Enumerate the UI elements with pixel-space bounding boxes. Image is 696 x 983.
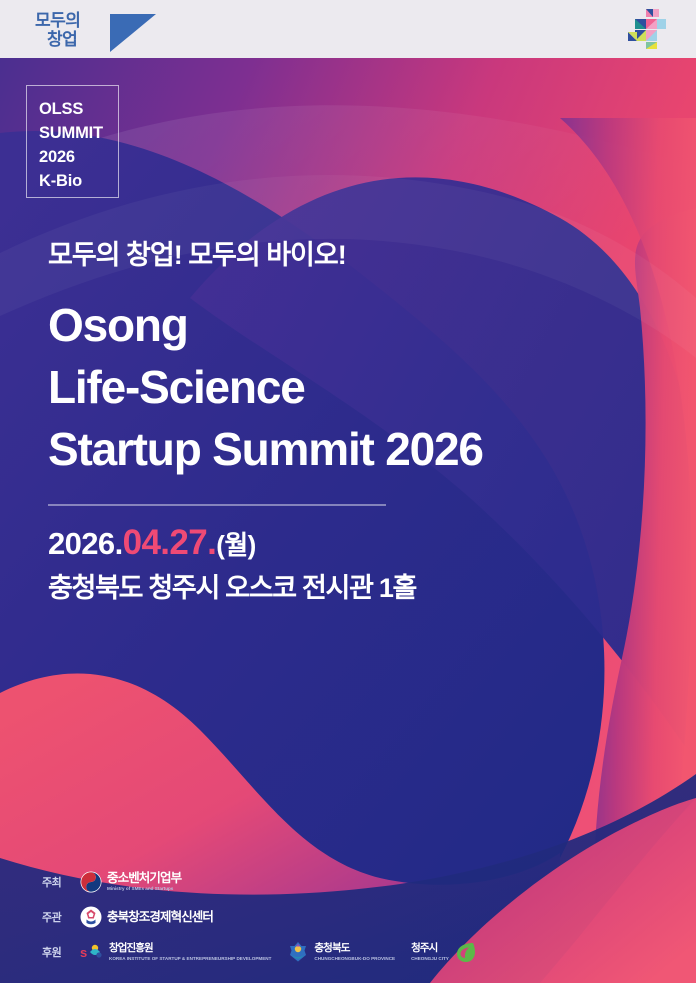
date-day-month: 04.27. bbox=[123, 523, 217, 562]
organizer-org-text: 충북창조경제혁신센터 bbox=[107, 911, 213, 924]
olss-badge-line: SUMMIT bbox=[39, 121, 118, 145]
sponsor-chungbuk-text: 충청북도 CHUNGCHEONGBUK-DO PROVINCE bbox=[314, 942, 395, 962]
sponsor-cheongju: 청주시 CHEONGJU CITY bbox=[411, 940, 477, 964]
olss-badge-line: 2026 bbox=[39, 145, 118, 169]
title-line-1: Osong bbox=[48, 294, 648, 356]
sponsor-cheongju-text: 청주시 CHEONGJU CITY bbox=[411, 942, 449, 962]
host-org: 중소벤처기업부 Ministry of SMEs and Startups bbox=[80, 871, 181, 893]
event-venue: 충청북도 청주시 오스코 전시관 1홀 bbox=[48, 570, 648, 606]
svg-text:s: s bbox=[80, 945, 87, 960]
organizer-label: 주관 bbox=[42, 909, 80, 925]
date-weekday: (월) bbox=[216, 530, 255, 560]
sponsor-kised-text: 창업진흥원 KOREA INSTITUTE OF STARTUP & ENTRE… bbox=[109, 942, 271, 962]
sponsor-cheongju-name: 청주시 bbox=[411, 942, 449, 955]
sponsor-kised-subtitle: KOREA INSTITUTE OF STARTUP & ENTREPRENEU… bbox=[109, 955, 271, 962]
kised-logo-icon: s bbox=[80, 942, 104, 962]
sponsor-row: 후원 s 창업진흥원 KOREA INSTITUTE OF STARTUP & … bbox=[42, 939, 642, 965]
page-title: Osong Life-Science Startup Summit 2026 bbox=[48, 294, 648, 480]
sponsor-cheongju-subtitle: CHEONGJU CITY bbox=[411, 955, 449, 962]
organizer-org-name: 충북창조경제혁신센터 bbox=[107, 911, 213, 924]
cheongju-city-leaf-icon bbox=[453, 940, 477, 964]
divider bbox=[48, 504, 386, 506]
brand-line-2: 창업 bbox=[25, 30, 80, 49]
host-org-text: 중소벤처기업부 Ministry of SMEs and Startups bbox=[107, 872, 181, 892]
k-bio-pinwheel-icon bbox=[626, 8, 672, 50]
brand-logo-text: 모두의 창업 bbox=[22, 11, 80, 49]
sponsor-kised: s 창업진흥원 KOREA INSTITUTE OF STARTUP & ENT… bbox=[80, 942, 271, 962]
tagline: 모두의 창업! 모두의 바이오! bbox=[48, 238, 648, 272]
triangle-right-icon bbox=[110, 14, 156, 52]
host-label: 주최 bbox=[42, 874, 80, 890]
sponsor-label: 후원 bbox=[42, 944, 80, 960]
poster-root: 모두의 창업 bbox=[0, 0, 696, 983]
host-row: 주최 중소벤처기업부 Ministry of SMEs and Startups bbox=[42, 869, 642, 895]
title-line-2: Life-Science bbox=[48, 356, 648, 418]
taegeuk-emblem-icon bbox=[80, 871, 102, 893]
organization-credits: 주최 중소벤처기업부 Ministry of SMEs and Startups… bbox=[42, 869, 642, 965]
organizer-row: 주관 충북창조경제혁신센터 bbox=[42, 904, 642, 930]
brand-line-1: 모두의 bbox=[25, 11, 80, 30]
ccei-flower-emblem-icon bbox=[80, 906, 102, 928]
main-copy-block: 모두의 창업! 모두의 바이오! Osong Life-Science Star… bbox=[48, 238, 648, 606]
title-line-3: Startup Summit 2026 bbox=[48, 418, 648, 480]
sponsor-chungbuk-name: 충청북도 bbox=[314, 942, 395, 955]
sponsor-chungbuk-subtitle: CHUNGCHEONGBUK-DO PROVINCE bbox=[314, 955, 395, 962]
olss-summit-badge: OLSS SUMMIT 2026 K-Bio bbox=[26, 85, 119, 198]
header-bar: 모두의 창업 bbox=[0, 0, 696, 58]
olss-badge-line: K-Bio bbox=[39, 169, 118, 193]
sponsor-chungbuk: 충청북도 CHUNGCHEONGBUK-DO PROVINCE bbox=[287, 941, 395, 963]
brand-logo[interactable]: 모두의 창업 bbox=[22, 8, 148, 52]
olss-badge-line: OLSS bbox=[39, 97, 118, 121]
chungbuk-province-emblem-icon bbox=[287, 941, 309, 963]
organizer-org: 충북창조경제혁신센터 bbox=[80, 906, 213, 928]
date-year: 2026. bbox=[48, 526, 123, 561]
event-date: 2026.04.27.(월) bbox=[48, 524, 648, 564]
sponsor-kised-name: 창업진흥원 bbox=[109, 942, 271, 955]
host-org-subtitle: Ministry of SMEs and Startups bbox=[107, 885, 181, 892]
host-org-name: 중소벤처기업부 bbox=[107, 872, 181, 885]
